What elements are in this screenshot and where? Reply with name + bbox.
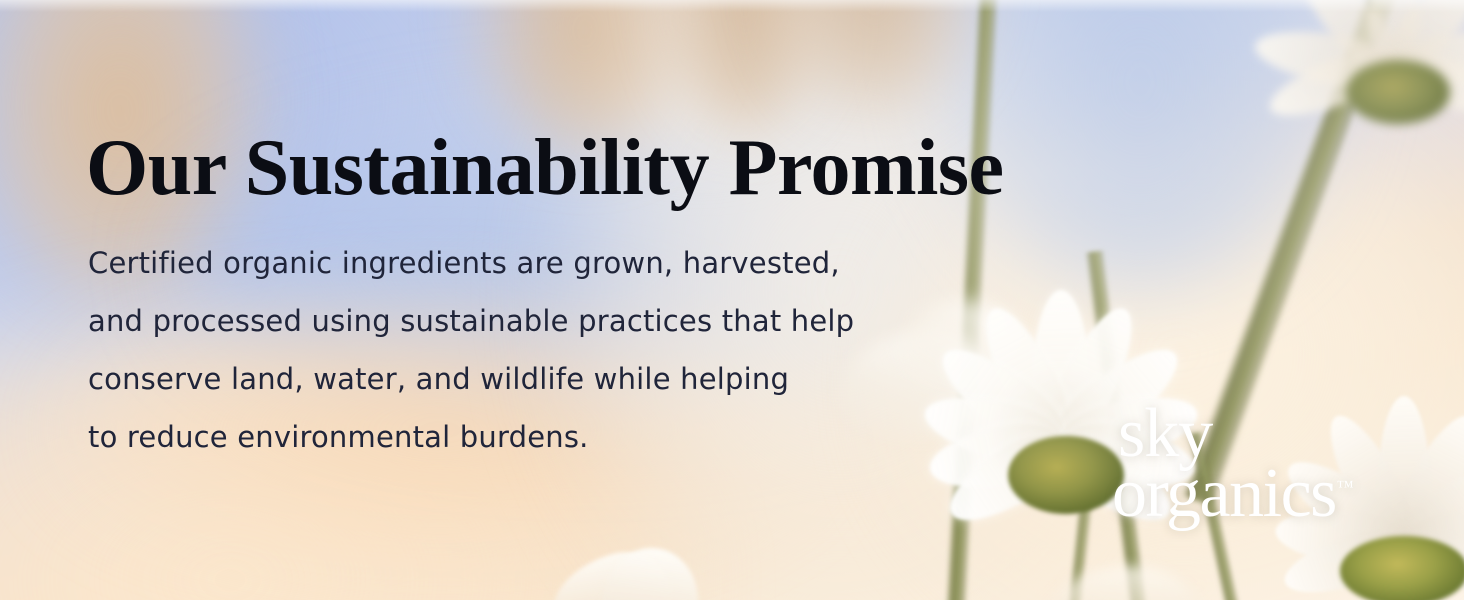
page-title: Our Sustainability Promise (86, 128, 986, 208)
body-line-1: Certified organic ingredients are grown,… (88, 234, 986, 292)
copy-block: Our Sustainability Promise Certified org… (86, 128, 986, 466)
body-paragraph: Certified organic ingredients are grown,… (88, 234, 986, 466)
brand-logo: sky organics™ (1112, 404, 1354, 524)
brand-logo-organics-text: organics (1112, 455, 1336, 532)
body-line-4: to reduce environmental burdens. (88, 408, 986, 466)
body-line-3: conserve land, water, and wildlife while… (88, 350, 986, 408)
body-line-2: and processed using sustainable practice… (88, 292, 986, 350)
brand-logo-line-organics: organics™ (1112, 464, 1354, 524)
trademark-symbol: ™ (1337, 477, 1354, 496)
sustainability-promise-banner: Our Sustainability Promise Certified org… (0, 0, 1464, 600)
